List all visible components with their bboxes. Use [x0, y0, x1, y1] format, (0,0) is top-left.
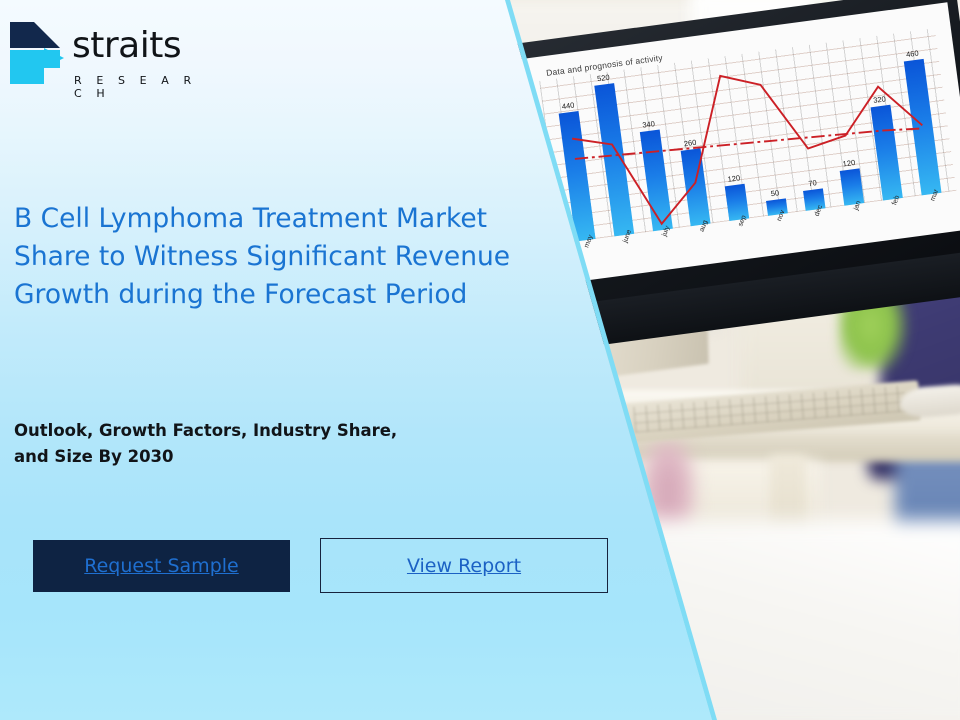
subhead-line-1: Outlook, Growth Factors, Industry Share, [14, 418, 454, 444]
view-report-button[interactable]: View Report [320, 538, 608, 593]
view-report-label: View Report [407, 555, 521, 577]
page-subtitle: Outlook, Growth Factors, Industry Share,… [14, 418, 454, 470]
chevron-arrow-logo-icon [8, 18, 68, 88]
screen-chart: Data and prognosis of activity 440520340… [529, 14, 960, 278]
page-title: B Cell Lymphoma Treatment Market Share t… [14, 200, 514, 314]
request-sample-button[interactable]: Request Sample [33, 540, 290, 592]
subhead-line-2: and Size By 2030 [14, 444, 454, 470]
brand-tagline: R E S E A R C H [74, 74, 208, 100]
headline-line-1: B Cell Lymphoma Treatment Market [14, 200, 514, 238]
headline-line-3: Growth during the Forecast Period [14, 276, 514, 314]
brand-logo[interactable]: straits R E S E A R C H [8, 14, 208, 94]
brand-wordmark: straits [72, 28, 181, 64]
request-sample-label: Request Sample [84, 555, 238, 577]
chart-series-trend [575, 113, 923, 175]
marketing-banner: Data and prognosis of activity 440520340… [0, 0, 960, 720]
headline-line-2: Share to Witness Significant Revenue [14, 238, 514, 276]
